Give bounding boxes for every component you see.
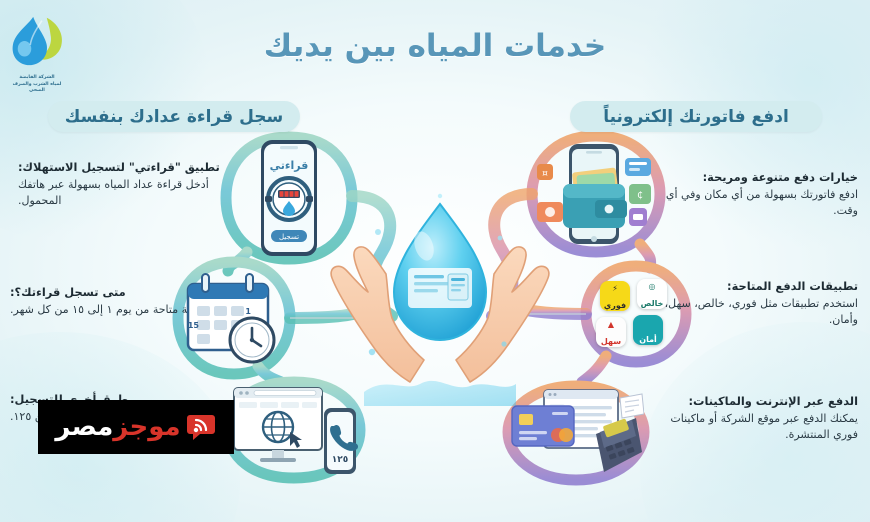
svg-text:¤: ¤	[542, 169, 548, 179]
smartphone-meter-icon: قراءتي تسجيل	[243, 137, 335, 259]
app-tile-khales-label: خالص	[641, 299, 664, 308]
sahl-glyph-icon: ▲	[608, 320, 614, 329]
app-tile-sahl[interactable]: ▲ سهل	[596, 317, 626, 347]
app-tile-khales[interactable]: ◎ خالص	[637, 279, 667, 309]
body-payment-options: ادفع فاتورتك بسهولة من أي مكان وفي أي وق…	[648, 187, 858, 219]
page-title: خدمات المياه بين يديك	[0, 28, 870, 64]
heading-qeraaty-app: تطبيق "قراءتي" لتسجيل الاستهلاك:	[18, 160, 228, 175]
calendar-day-start: 1	[245, 307, 251, 316]
heading-online-machines: الدفع عبر الإنترنت والماكينات:	[648, 394, 858, 409]
text-block-payment-options: خيارات دفع متنوعة ومريحة: ادفع فاتورتك ب…	[648, 170, 858, 219]
phone-submit-button-label: تسجيل	[279, 233, 299, 241]
watermark-text-secondary: مصر	[55, 412, 113, 442]
banner-self-meter-reading: سجل قراءة عدادك بنفسك	[48, 101, 300, 132]
speech-bubble-rss-icon	[187, 413, 217, 441]
node-qeraaty-phone: قراءتي تسجيل	[243, 137, 335, 259]
app-tile-fawry-label: فوري	[604, 301, 626, 310]
watermark-mogaz-masr: موجزمصر	[38, 400, 234, 454]
mobile-wallet-icon: ¤ ₵	[533, 140, 653, 248]
desktop-globe-phone-icon: ١٢٥	[228, 382, 360, 478]
khales-glyph-icon: ◎	[649, 282, 656, 291]
node-card-pos	[508, 388, 644, 480]
app-tile-aman[interactable]: أمان	[633, 315, 663, 345]
node-payment-apps	[585, 266, 685, 364]
logo-company-name: الشركة القابضة	[6, 75, 68, 81]
app-tile-aman-label: أمان	[639, 335, 657, 344]
node-mobile-wallet: ¤ ₵	[533, 140, 653, 248]
watermark-label: موجزمصر	[55, 412, 180, 442]
fawry-glyph-icon: ⚡	[612, 284, 618, 293]
phone-app-name: قراءتي	[270, 159, 309, 172]
text-block-online-machines: الدفع عبر الإنترنت والماكينات: يمكنك الد…	[648, 394, 858, 443]
app-tile-sahl-label: سهل	[601, 337, 621, 346]
calendar-clock-icon: 1 15	[178, 262, 290, 374]
logo-company-subtitle: لمياه الشرب والصرف الصحي	[6, 82, 68, 94]
infographic-canvas: الشركة القابضة لمياه الشرب والصرف الصحي …	[0, 0, 870, 522]
center-illustration-svg	[331, 194, 549, 406]
card-pos-icon	[508, 388, 644, 480]
svg-text:₵: ₵	[637, 191, 643, 201]
node-calendar-clock: 1 15	[178, 262, 290, 374]
node-web-hotline: ١٢٥	[228, 382, 360, 478]
body-qeraaty-app: أدخل قراءة عداد المياه بسهولة عبر هاتفك …	[18, 177, 228, 209]
banner-electronic-payment: ادفع فاتورتك إلكترونياً	[570, 101, 822, 132]
body-online-machines: يمكنك الدفع عبر موقع الشركة أو ماكينات ف…	[648, 411, 858, 443]
app-tile-fawry[interactable]: ⚡ فوري	[600, 281, 630, 311]
heading-payment-options: خيارات دفع متنوعة ومريحة:	[648, 170, 858, 185]
hotline-number: ١٢٥	[332, 455, 348, 465]
watermark-text-main: موجز	[113, 412, 180, 442]
text-block-qeraaty-app: تطبيق "قراءتي" لتسجيل الاستهلاك: أدخل قر…	[18, 160, 228, 209]
calendar-day-end: 15	[188, 321, 200, 330]
